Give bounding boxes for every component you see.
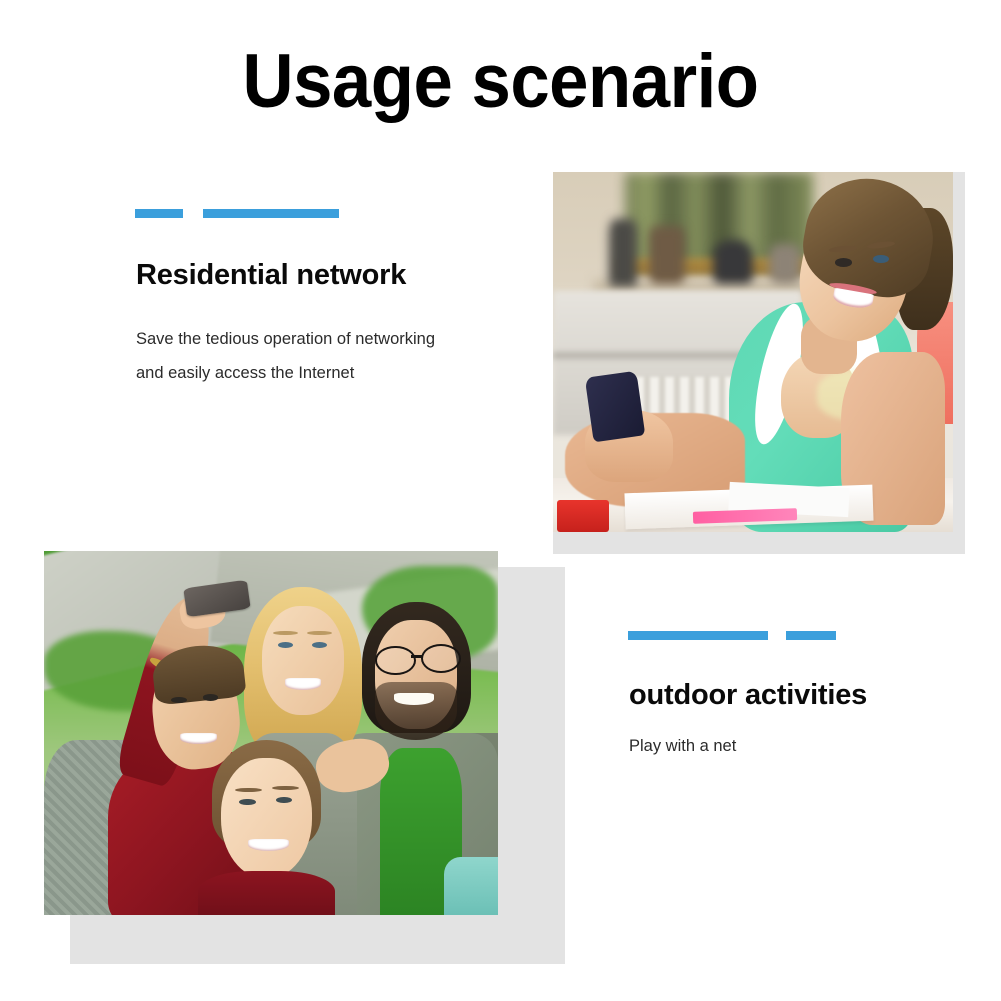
photo-short-hair-woman-eye [239, 799, 255, 806]
photo-shelf-object [609, 219, 637, 287]
photo-image-indoor [553, 172, 953, 532]
accent-bar-short-icon [786, 631, 836, 640]
photo-man-glasses-beard [375, 682, 457, 740]
photo-short-hair-woman-smile [248, 839, 289, 851]
photo-woman-eye [873, 255, 889, 263]
section-body-residential: Save the tedious operation of networking… [136, 322, 435, 390]
accent-bars-outdoor [628, 631, 836, 640]
photo-shelf-object [713, 240, 753, 283]
accent-bar-short-icon [135, 209, 183, 218]
section-body-line: and easily access the Internet [136, 356, 435, 390]
photo-blonde-woman-smile [285, 678, 321, 690]
accent-bar-long-icon [203, 209, 339, 218]
photo-man-red-eye [203, 694, 218, 700]
photo-short-hair-woman-eyebrow [235, 788, 262, 792]
photo-outdoor-friends-selfie [30, 540, 540, 960]
accent-bars-residential [135, 209, 339, 218]
photo-man-red-smile [180, 733, 216, 744]
section-heading-outdoor: outdoor activities [629, 679, 867, 712]
photo-teal-clothing [444, 857, 498, 915]
photo-short-hair-woman-head [221, 758, 312, 878]
photo-shelf-object [649, 226, 685, 284]
photo-shelf-object [769, 244, 801, 284]
photo-red-object [557, 500, 609, 532]
photo-blonde-woman-head [262, 606, 344, 715]
section-body-line: Play with a net [629, 729, 736, 763]
photo-woman-eye [835, 258, 852, 267]
eyeglasses-bridge-icon [411, 655, 423, 659]
photo-mobile-phone [585, 370, 646, 441]
section-body-line: Save the tedious operation of networking [136, 322, 435, 356]
accent-bar-long-icon [628, 631, 768, 640]
eyeglasses-icon [375, 646, 415, 675]
photo-man-red-eye [171, 697, 186, 703]
photo-image-outdoor [44, 551, 498, 915]
section-body-outdoor: Play with a net [629, 729, 736, 763]
photo-short-hair-woman-body [198, 871, 334, 915]
photo-indoor-woman-with-phone [540, 160, 970, 560]
section-heading-residential: Residential network [136, 259, 406, 292]
page-title: Usage scenario [35, 44, 966, 120]
photo-short-hair-woman-eye [276, 797, 292, 804]
